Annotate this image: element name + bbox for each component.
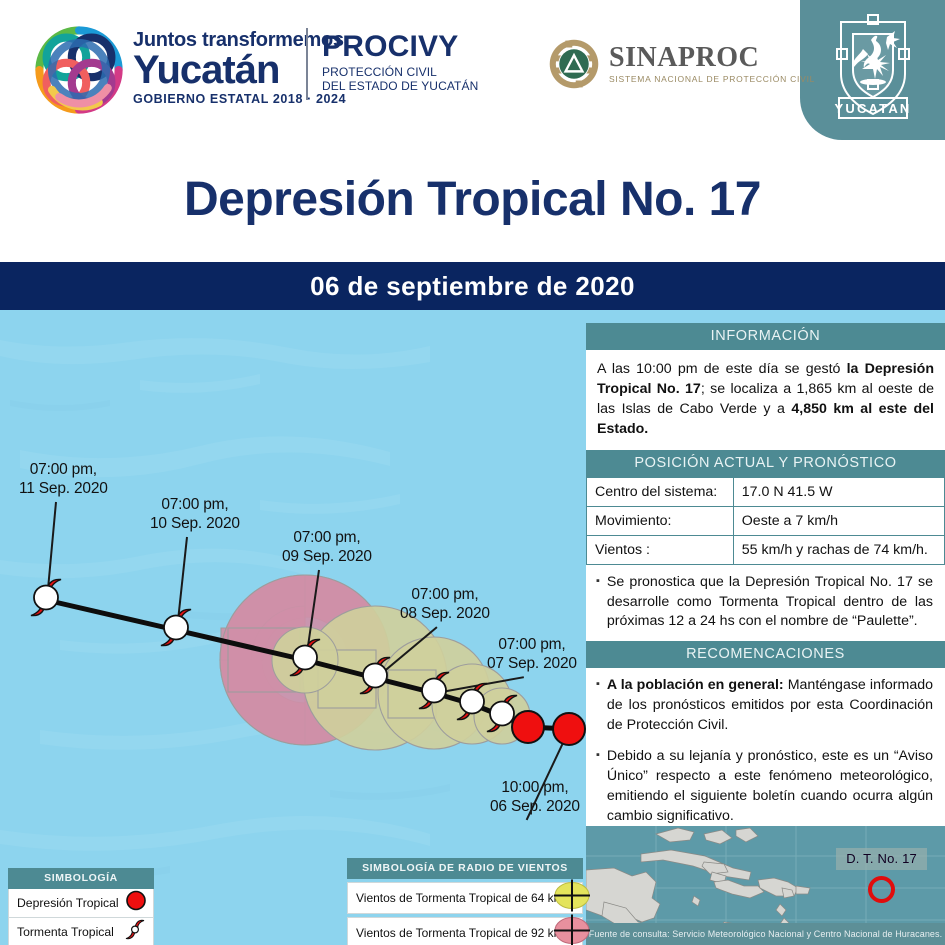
recommendation-item: ▪A la población en general: Manténgase i…: [596, 676, 933, 736]
track-label: 07:00 pm, 08 Sep. 2020: [400, 585, 490, 624]
bullet-square-icon: ▪: [596, 573, 600, 633]
legend-wind-92-label: Vientos de Tormenta Tropical de 92 km/h: [356, 926, 574, 940]
procivy-logo: PROCIVY PROTECCIÓN CIVIL DEL ESTADO DE Y…: [322, 32, 478, 94]
recommendation-body: Debido a su lejanía y pronóstico, este e…: [607, 748, 933, 824]
minimap-source-text: Fuente de consulta: Servicio Meteorológi…: [589, 929, 943, 939]
recommendation-text: Debido a su lejanía y pronóstico, este e…: [607, 747, 933, 827]
position-row-key: Movimiento:: [587, 506, 734, 535]
legend-wind-radius: SIMBOLOGÍA DE RADIO DE VIENTOS Vientos d…: [347, 858, 583, 945]
legend-row-tropical-storm: Tormenta Tropical: [8, 918, 154, 945]
locator-minimap: D. T. No. 17 Fuente de consulta: Servici…: [586, 826, 945, 945]
storm-track-path: [0, 310, 600, 945]
track-label: 07:00 pm, 10 Sep. 2020: [150, 495, 240, 534]
position-row: Movimiento:Oeste a 7 km/h: [587, 506, 945, 535]
legend-row-wind-92: Vientos de Tormenta Tropical de 92 km/h: [347, 917, 583, 945]
track-marker-tropical-storm: [283, 636, 327, 685]
position-header: POSICIÓN ACTUAL Y PRONÓSTICO: [586, 450, 945, 477]
info-part-1: A las 10:00 pm de este día se gestó: [597, 361, 847, 377]
bullet-square-icon: ▪: [596, 747, 600, 827]
recommendations-header: RECOMENCACIONES: [586, 641, 945, 668]
recommendations-list: ▪A la población en general: Manténgase i…: [586, 668, 945, 835]
track-marker-depression: [511, 710, 545, 744]
depression-dot-icon: [125, 890, 147, 917]
minimap-storm-marker-icon: [868, 876, 895, 903]
header-divider: [306, 28, 308, 100]
legend-symbols: SIMBOLOGÍA Depresión Tropical Tormenta T…: [8, 868, 154, 945]
forecast-note: ▪ Se pronostica que la Depresión Tropica…: [586, 565, 945, 642]
position-row-value: 17.0 N 41.5 W: [733, 477, 944, 506]
position-row-value: Oeste a 7 km/h: [733, 506, 944, 535]
recommendation-bold: A la población en general:: [607, 677, 784, 693]
yucatan-rings-logo-icon: [34, 25, 124, 115]
page-title: Depresión Tropical No. 17: [0, 172, 945, 227]
wind-radius-64-icon: [550, 879, 594, 918]
position-row-value: 55 km/h y rachas de 74 km/h.: [733, 535, 944, 564]
title-area: Depresión Tropical No. 17: [0, 150, 945, 260]
information-panel: INFORMACIÓN A las 10:00 pm de este día s…: [586, 323, 945, 835]
position-table: Centro del sistema:17.0 N 41.5 WMovimien…: [586, 477, 945, 565]
yucatan-coat-of-arms-icon: YUCATAN: [819, 12, 927, 132]
yucatan-wordmark: Juntos transformemos Yucatán GOBIERNO ES…: [133, 30, 346, 106]
sinaproc-emblem-icon: [548, 38, 600, 90]
shield-label-text: YUCATAN: [834, 101, 911, 116]
tropical-storm-icon: [123, 918, 147, 945]
track-marker-depression: [552, 712, 586, 746]
minimap-storm-label: D. T. No. 17: [836, 848, 927, 870]
track-marker-tropical-storm: [353, 654, 397, 703]
legend-row-wind-64: Vientos de Tormenta Tropical de 64 km/h: [347, 882, 583, 914]
bullet-square-icon: ▪: [596, 676, 600, 736]
position-row: Vientos :55 km/h y rachas de 74 km/h.: [587, 535, 945, 564]
legend-symbols-header: SIMBOLOGÍA: [8, 868, 154, 889]
yucatan-line2: Yucatán: [133, 51, 346, 89]
procivy-subtitle-1: PROTECCIÓN CIVIL: [322, 65, 478, 79]
date-banner-text: 06 de septiembre de 2020: [310, 271, 635, 302]
track-marker-tropical-storm: [154, 606, 198, 655]
panel-side-strip: [582, 323, 586, 835]
header-band: Juntos transformemos Yucatán GOBIERNO ES…: [0, 0, 945, 150]
legend-wind-header: SIMBOLOGÍA DE RADIO DE VIENTOS: [347, 858, 583, 879]
procivy-title: PROCIVY: [322, 32, 478, 62]
legend-row-depression: Depresión Tropical: [8, 889, 154, 918]
info-header: INFORMACIÓN: [586, 323, 945, 350]
forecast-bullet-item: ▪ Se pronostica que la Depresión Tropica…: [596, 573, 933, 633]
legend-wind-64-label: Vientos de Tormenta Tropical de 64 km/h: [356, 891, 574, 905]
recommendation-text: A la población en general: Manténgase in…: [607, 676, 933, 736]
sinaproc-subtitle: SISTEMA NACIONAL DE PROTECCIÓN CIVIL: [609, 74, 815, 84]
minimap-source-bar: Fuente de consulta: Servicio Meteorológi…: [586, 923, 945, 945]
date-banner: 06 de septiembre de 2020: [0, 262, 945, 310]
track-marker-tropical-storm: [24, 576, 68, 625]
sinaproc-logo: SINAPROC SISTEMA NACIONAL DE PROTECCIÓN …: [548, 38, 815, 90]
sinaproc-title: SINAPROC: [609, 44, 815, 72]
track-label: 07:00 pm, 11 Sep. 2020: [19, 460, 108, 499]
track-label: 10:00 pm, 06 Sep. 2020: [490, 778, 580, 817]
wind-radius-92-icon: [550, 914, 594, 945]
yucatan-line1: Juntos transformemos: [133, 30, 346, 50]
recommendation-item: ▪Debido a su lejanía y pronóstico, este …: [596, 747, 933, 827]
info-paragraph: A las 10:00 pm de este día se gestó la D…: [597, 359, 934, 440]
position-row-key: Centro del sistema:: [587, 477, 734, 506]
info-body: A las 10:00 pm de este día se gestó la D…: [586, 350, 945, 450]
track-label: 07:00 pm, 09 Sep. 2020: [282, 528, 372, 567]
forecast-bullet-text: Se pronostica que la Depresión Tropical …: [607, 573, 933, 633]
position-row-key: Vientos :: [587, 535, 734, 564]
yucatan-line3: GOBIERNO ESTATAL 2018 · 2024: [133, 92, 346, 106]
position-row: Centro del sistema:17.0 N 41.5 W: [587, 477, 945, 506]
infographic-page: Juntos transformemos Yucatán GOBIERNO ES…: [0, 0, 945, 945]
track-label: 07:00 pm, 07 Sep. 2020: [487, 635, 577, 674]
procivy-subtitle-2: DEL ESTADO DE YUCATÁN: [322, 79, 478, 93]
